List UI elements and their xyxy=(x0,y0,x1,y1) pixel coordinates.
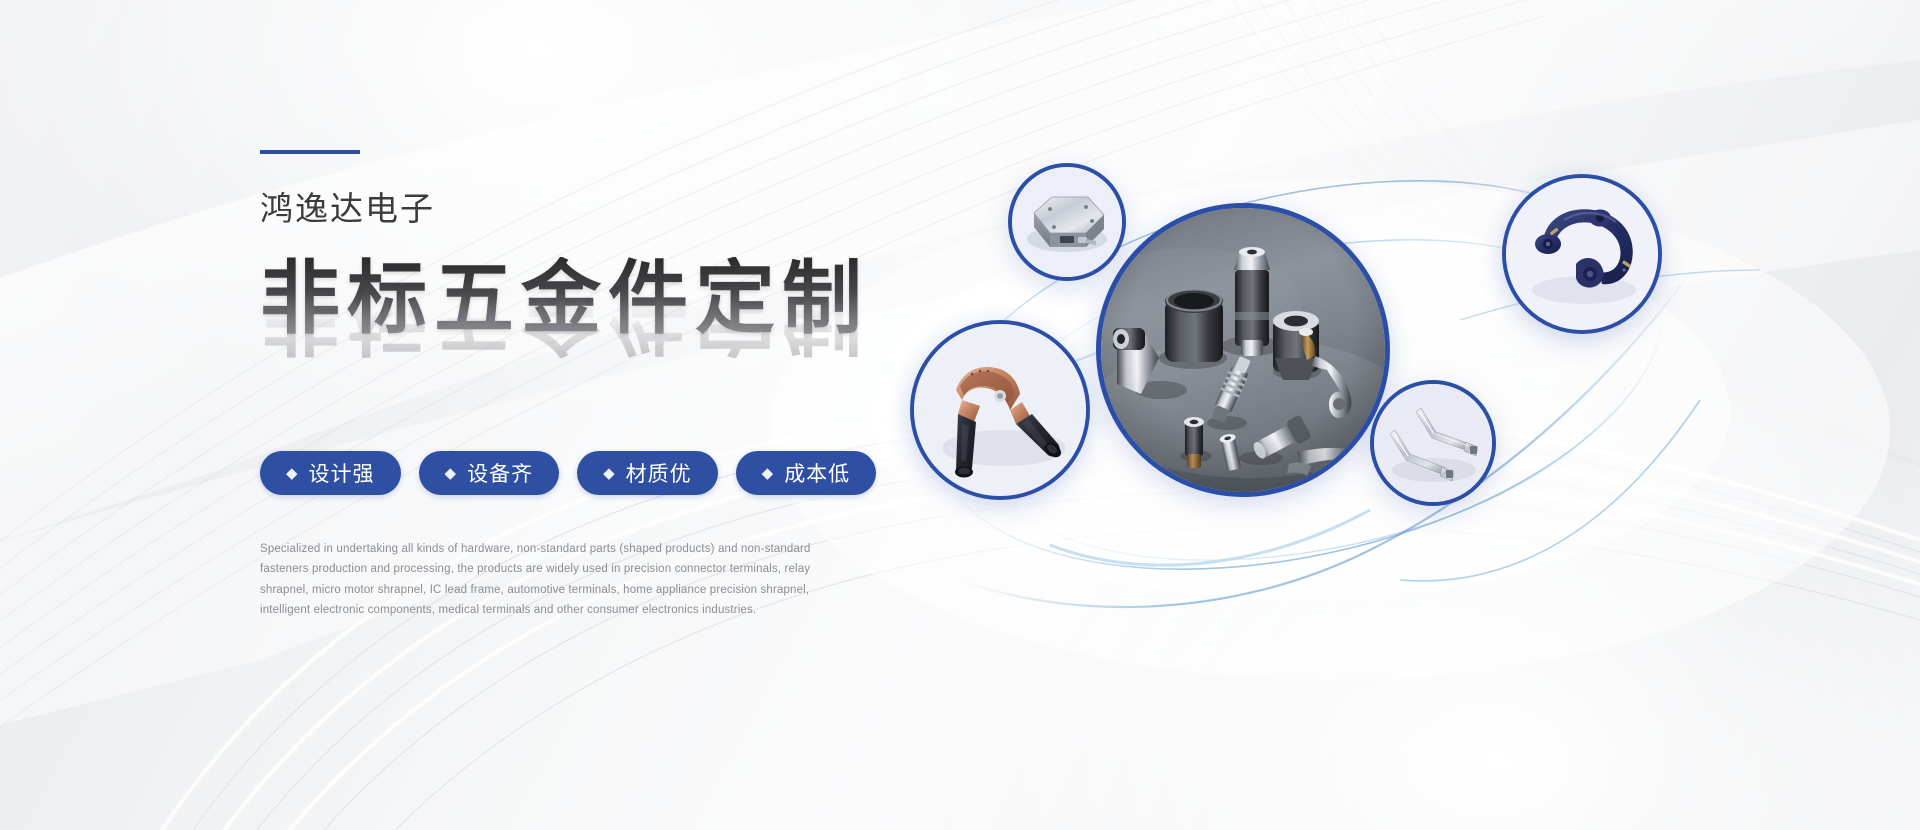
feature-badge-list: ◆ 设计强 ◆ 设备齐 ◆ 材质优 ◆ 成本低 xyxy=(260,451,960,495)
battery-clamp-photo xyxy=(914,324,1086,496)
product-pod-shield-box[interactable] xyxy=(1008,163,1126,281)
feature-badge-label: 成本低 xyxy=(784,458,850,488)
feature-badge-material[interactable]: ◆ 材质优 xyxy=(577,451,718,495)
accent-bar xyxy=(260,150,360,154)
feature-badge-label: 设备齐 xyxy=(467,458,533,488)
headline-block: 非标五金件定制 非标五金件定制 xyxy=(260,257,960,407)
product-pod-terminal-pins[interactable] xyxy=(1370,380,1496,506)
product-showcase xyxy=(900,150,1780,670)
brand-name: 鸿逸达电子 xyxy=(260,192,960,225)
diamond-icon: ◆ xyxy=(445,466,458,481)
feature-badge-label: 材质优 xyxy=(626,458,692,488)
diamond-icon: ◆ xyxy=(603,466,616,481)
metal-box-photo xyxy=(1012,167,1122,277)
feature-badge-label: 设计强 xyxy=(309,458,375,488)
hero-banner: 鸿逸达电子 非标五金件定制 非标五金件定制 ◆ 设计强 ◆ 设备齐 ◆ 材质优 … xyxy=(0,0,1920,830)
feature-badge-design[interactable]: ◆ 设计强 xyxy=(260,451,401,495)
retaining-clip-photo xyxy=(1506,178,1658,330)
feature-badge-equipment[interactable]: ◆ 设备齐 xyxy=(419,451,560,495)
precision-parts-photo xyxy=(1101,208,1385,492)
terminal-pins-photo xyxy=(1374,384,1492,502)
page-title: 非标五金件定制 xyxy=(260,257,960,341)
product-pod-battery-clamp[interactable] xyxy=(910,320,1090,500)
hero-copy: 鸿逸达电子 非标五金件定制 非标五金件定制 ◆ 设计强 ◆ 设备齐 ◆ 材质优 … xyxy=(260,150,960,632)
product-pod-retaining-clip[interactable] xyxy=(1502,174,1662,334)
diamond-icon: ◆ xyxy=(762,466,775,481)
company-description: Specialized in undertaking all kinds of … xyxy=(260,539,820,621)
feature-badge-cost[interactable]: ◆ 成本低 xyxy=(736,451,877,495)
product-pod-main[interactable] xyxy=(1096,203,1390,497)
diamond-icon: ◆ xyxy=(286,466,299,481)
